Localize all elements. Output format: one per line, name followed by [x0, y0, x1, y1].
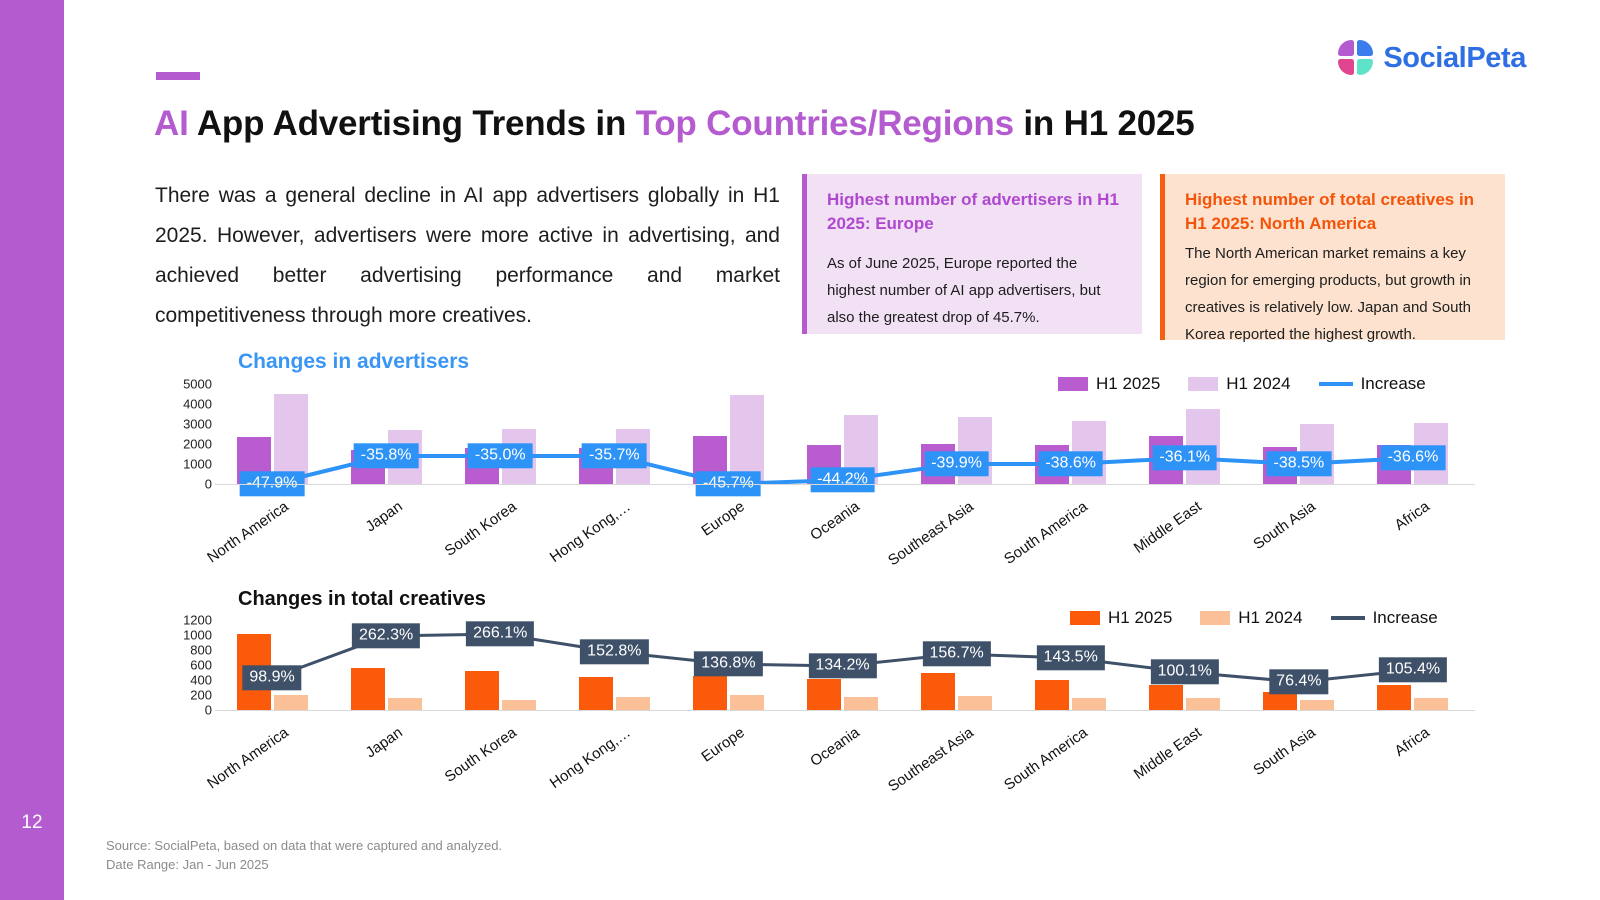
- x-tick-label: South America: [974, 724, 1090, 812]
- increase-value-label: 266.1%: [466, 621, 534, 646]
- x-tick-label: Africa: [1316, 724, 1432, 812]
- brand-logo: SocialPeta: [1338, 40, 1526, 76]
- brand-name: SocialPeta: [1383, 42, 1526, 75]
- y-tick-label: 1000: [183, 629, 212, 642]
- x-tick-label: South Asia: [1202, 724, 1318, 812]
- x-tick-label: North America: [176, 498, 292, 586]
- page-title-part-2: App Advertising Trends in: [189, 104, 636, 143]
- increase-value-label: 105.4%: [1379, 657, 1447, 682]
- increase-value-label: -44.2%: [810, 467, 875, 492]
- plot-area-advertisers: -47.9%-35.8%-35.0%-35.7%-45.7%-44.2%-39.…: [215, 384, 1470, 484]
- y-axis-labels-advertisers: 500040003000200010000: [150, 378, 212, 498]
- y-tick-label: 3000: [183, 418, 212, 431]
- logo-quadrant-top-left: [1338, 40, 1354, 56]
- x-tick-label: Southeast Asia: [860, 724, 976, 812]
- callout-highest-creatives: Highest number of total creatives in H1 …: [1160, 174, 1505, 340]
- increase-value-label: -38.6%: [1038, 451, 1103, 476]
- x-tick-label: North America: [176, 724, 292, 812]
- increase-value-label: -35.0%: [468, 443, 533, 468]
- x-tick-label: South Korea: [404, 724, 520, 812]
- chart-creatives: H1 2025H1 2024Increase 12001000800600400…: [0, 586, 1540, 821]
- y-tick-label: 4000: [183, 398, 212, 411]
- x-tick-label: Europe: [632, 498, 748, 586]
- increase-value-label: -36.1%: [1152, 445, 1217, 470]
- y-tick-label: 2000: [183, 438, 212, 451]
- x-tick-label: Middle East: [1088, 498, 1204, 586]
- increase-value-label: 98.9%: [242, 665, 301, 690]
- page-title-part-4: in H1 2025: [1014, 104, 1195, 143]
- increase-value-label: 152.8%: [580, 639, 648, 664]
- increase-value-label: -38.5%: [1267, 451, 1332, 476]
- x-tick-label: Africa: [1316, 498, 1432, 586]
- intro-paragraph: There was a general decline in AI app ad…: [155, 176, 780, 336]
- x-axis-labels-advertisers: North AmericaJapanSouth KoreaHong Kong,……: [215, 492, 1475, 582]
- callout-title: Highest number of total creatives in H1 …: [1185, 188, 1487, 236]
- increase-value-label: 76.4%: [1269, 669, 1328, 694]
- y-tick-label: 1200: [183, 614, 212, 627]
- x-tick-label: Middle East: [1088, 724, 1204, 812]
- source-footer: Source: SocialPeta, based on data that w…: [106, 836, 502, 874]
- x-tick-label: Hong Kong,…: [518, 724, 634, 812]
- y-tick-label: 5000: [183, 378, 212, 391]
- x-tick-label: South America: [974, 498, 1090, 586]
- logo-quadrant-top-right: [1357, 40, 1373, 56]
- increase-value-label: 134.2%: [808, 653, 876, 678]
- footer-source-line: Source: SocialPeta, based on data that w…: [106, 836, 502, 855]
- x-tick-label: South Asia: [1202, 498, 1318, 586]
- increase-value-label: 143.5%: [1037, 645, 1105, 670]
- plot-area-creatives: 98.9%262.3%266.1%152.8%136.8%134.2%156.7…: [215, 620, 1470, 710]
- footer-daterange-line: Date Range: Jan - Jun 2025: [106, 855, 502, 874]
- increase-value-label: 136.8%: [694, 651, 762, 676]
- y-tick-label: 600: [190, 659, 212, 672]
- increase-value-label: 156.7%: [922, 641, 990, 666]
- callout-body: As of June 2025, Europe reported the hig…: [827, 250, 1124, 331]
- y-tick-label: 800: [190, 644, 212, 657]
- increase-value-label: -36.6%: [1381, 445, 1446, 470]
- y-tick-label: 0: [205, 478, 212, 491]
- page-title-part-ai: AI: [154, 104, 189, 143]
- y-tick-label: 0: [205, 704, 212, 717]
- title-accent-dash: [156, 72, 200, 80]
- socialpeta-quadrant-logo-icon: [1338, 40, 1374, 76]
- y-tick-label: 1000: [183, 458, 212, 471]
- increase-value-label: 100.1%: [1151, 659, 1219, 684]
- logo-quadrant-bottom-left: [1338, 59, 1354, 75]
- increase-value-label: -35.8%: [354, 443, 419, 468]
- x-tick-label: South Korea: [404, 498, 520, 586]
- increase-value-label: -39.9%: [924, 451, 989, 476]
- x-tick-label: Oceania: [746, 724, 862, 812]
- callout-highest-advertisers: Highest number of advertisers in H1 2025…: [802, 174, 1142, 334]
- x-tick-label: Southeast Asia: [860, 498, 976, 586]
- x-tick-label: Japan: [290, 724, 406, 812]
- x-tick-label: Hong Kong,…: [518, 498, 634, 586]
- x-axis-line: [215, 710, 1475, 711]
- x-axis-line: [215, 484, 1475, 485]
- x-axis-labels-creatives: North AmericaJapanSouth KoreaHong Kong,……: [215, 718, 1475, 808]
- y-axis-labels-creatives: 120010008006004002000: [150, 618, 212, 728]
- increase-value-label: 262.3%: [352, 623, 420, 648]
- chart-advertisers: H1 2025H1 2024Increase 50004000300020001…: [0, 346, 1540, 576]
- page-title: AI App Advertising Trends in Top Countri…: [154, 104, 1195, 144]
- x-tick-label: Europe: [632, 724, 748, 812]
- logo-quadrant-bottom-right: [1357, 59, 1373, 75]
- y-tick-label: 400: [190, 674, 212, 687]
- x-tick-label: Oceania: [746, 498, 862, 586]
- page-title-part-regions: Top Countries/Regions: [636, 104, 1014, 143]
- x-tick-label: Japan: [290, 498, 406, 586]
- increase-value-label: -35.7%: [582, 443, 647, 468]
- callout-body: The North American market remains a key …: [1185, 240, 1487, 348]
- callout-title: Highest number of advertisers in H1 2025…: [827, 188, 1124, 236]
- y-tick-label: 200: [190, 689, 212, 702]
